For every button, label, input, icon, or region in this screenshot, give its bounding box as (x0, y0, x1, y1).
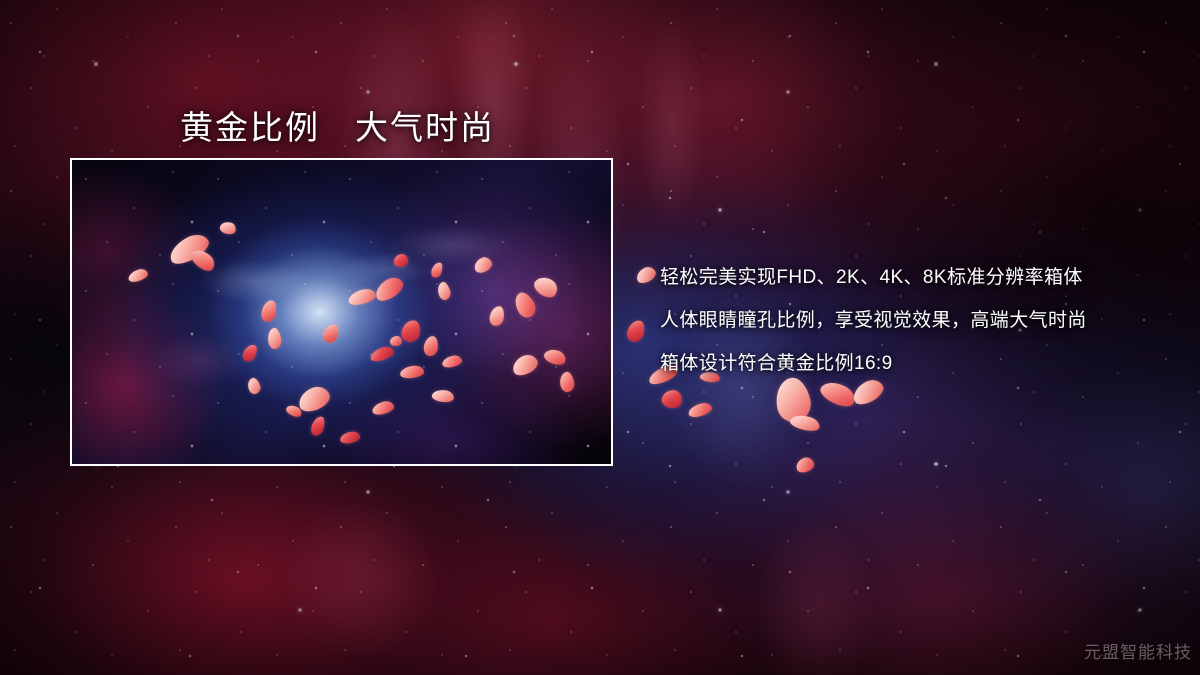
petal-shape (660, 388, 683, 410)
body-line-3: 箱体设计符合黄金比例16:9 (660, 342, 1180, 385)
petal-shape (371, 400, 395, 417)
petal-shape (558, 371, 575, 393)
petal-shape (400, 318, 423, 344)
galaxy-photo-frame (70, 158, 613, 466)
petal-shape (509, 351, 540, 378)
petal-shape (339, 430, 361, 444)
petal-shape (430, 261, 445, 279)
petal-shape (390, 336, 402, 346)
petal-shape (531, 273, 561, 301)
petal-shape (240, 342, 259, 364)
petal-shape (267, 327, 283, 350)
petal-shape (165, 229, 212, 268)
petal-shape (634, 264, 658, 285)
petal-shape (472, 255, 494, 275)
petal-shape (394, 254, 408, 267)
slide-body-copy: 轻松完美实现FHD、2K、4K、8K标准分辨率箱体 人体眼睛瞳孔比例，享受视觉效… (660, 256, 1180, 385)
body-line-2: 人体眼睛瞳孔比例，享受视觉效果，高端大气时尚 (660, 299, 1180, 342)
petal-shape (369, 345, 396, 364)
presentation-slide: 黄金比例 大气时尚 轻松完美实现FHD、2K、4K、8K标准分辨率箱体 人体眼睛… (0, 0, 1200, 675)
petal-shape (423, 335, 439, 356)
petal-shape (436, 281, 452, 302)
petal-shape (794, 456, 815, 475)
petal-shape (285, 403, 304, 419)
petal-shape (625, 318, 647, 344)
company-watermark: 元盟智能科技 (1084, 638, 1192, 663)
petal-shape (372, 273, 407, 304)
petal-shape (511, 289, 540, 321)
petal-shape (321, 322, 341, 345)
petal-shape (687, 401, 713, 419)
floating-petals-photo (72, 160, 611, 464)
petal-shape (219, 220, 238, 236)
petal-shape (789, 413, 821, 434)
petal-shape (295, 383, 333, 415)
petal-shape (309, 415, 327, 438)
petal-shape (431, 389, 454, 404)
petal-shape (246, 376, 263, 395)
slide-headline: 黄金比例 大气时尚 (180, 101, 495, 149)
petal-shape (441, 354, 463, 369)
petal-shape (347, 287, 378, 307)
petal-shape (260, 299, 278, 323)
petal-shape (127, 267, 149, 284)
petal-shape (542, 347, 567, 368)
petal-shape (488, 305, 505, 327)
petal-shape (188, 246, 218, 275)
petal-shape (399, 365, 424, 379)
body-line-1: 轻松完美实现FHD、2K、4K、8K标准分辨率箱体 (660, 256, 1180, 299)
